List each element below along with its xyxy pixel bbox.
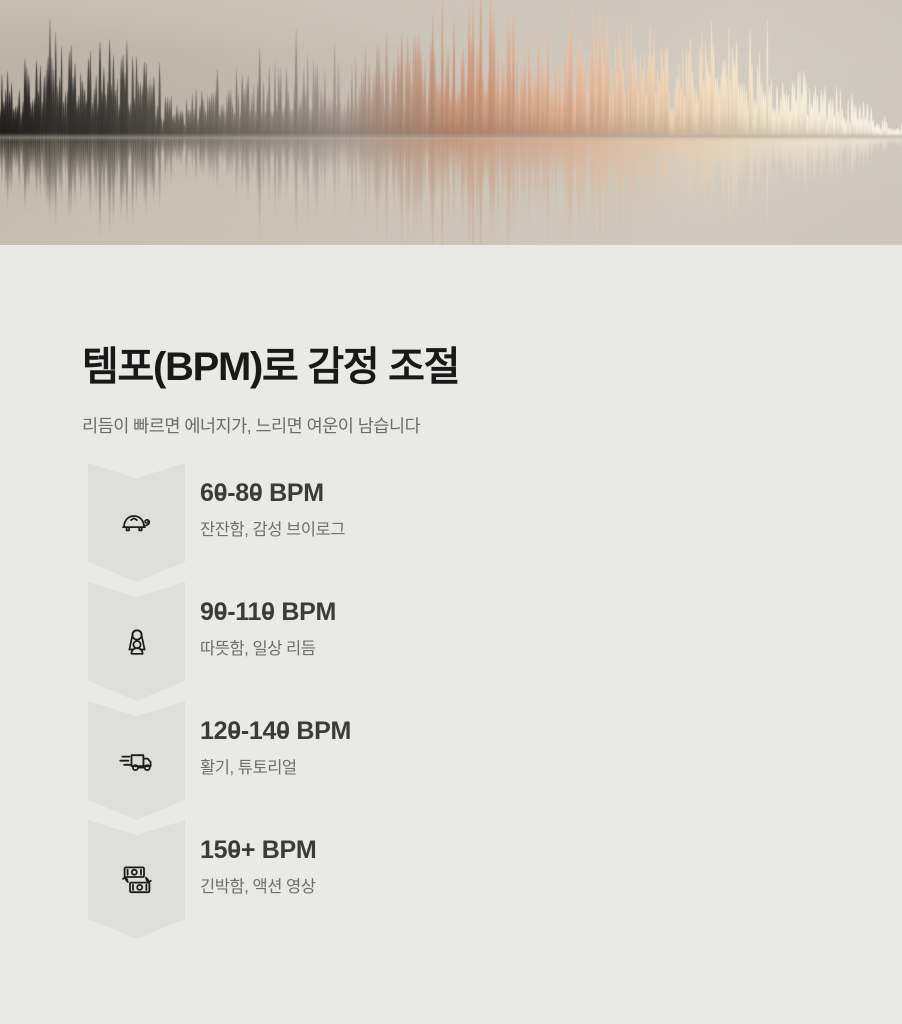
bpm-range-label: 90-110 BPM bbox=[200, 599, 336, 627]
list-item[interactable]: 150+ BPM 긴박함, 액션 영상 bbox=[0, 820, 902, 939]
bpm-description: 잔잔함, 감성 브이로그 bbox=[200, 521, 345, 541]
waveform-artwork bbox=[0, 0, 902, 245]
bpm-text-block: 60-80 BPM 잔잔함, 감성 브이로그 bbox=[200, 480, 345, 540]
hero-waveform-banner bbox=[0, 0, 902, 245]
family-person-icon bbox=[88, 627, 185, 657]
bpm-text-block: 90-110 BPM 따뜻함, 일상 리듬 bbox=[200, 599, 336, 659]
bpm-badge bbox=[88, 463, 185, 582]
delivery-truck-icon bbox=[88, 748, 185, 774]
turtle-icon bbox=[88, 510, 185, 536]
bpm-range-label: 120-140 BPM bbox=[200, 718, 351, 746]
bpm-text-block: 120-140 BPM 활기, 튜토리얼 bbox=[200, 718, 351, 778]
bpm-description: 따뜻함, 일상 리듬 bbox=[200, 640, 336, 660]
page-subtitle: 리듬이 빠르면 에너지가, 느리면 여운이 남습니다 bbox=[82, 413, 420, 438]
list-item[interactable]: 120-140 BPM 활기, 튜토리얼 bbox=[0, 701, 902, 820]
bpm-range-list: 60-80 BPM 잔잔함, 감성 브이로그 bbox=[0, 463, 902, 939]
bpm-range-label: 150+ BPM bbox=[200, 837, 316, 865]
money-exchange-icon bbox=[88, 864, 185, 896]
bpm-range-label: 60-80 BPM bbox=[200, 480, 345, 508]
page-title: 템포(BPM)로 감정 조절 bbox=[82, 346, 459, 389]
bpm-badge bbox=[88, 701, 185, 820]
bpm-description: 활기, 튜토리얼 bbox=[200, 759, 351, 779]
list-item[interactable]: 90-110 BPM 따뜻함, 일상 리듬 bbox=[0, 582, 902, 701]
content-section: 템포(BPM)로 감정 조절 리듬이 빠르면 에너지가, 느리면 여운이 남습니… bbox=[0, 245, 902, 1024]
bpm-badge bbox=[88, 820, 185, 939]
bpm-badge bbox=[88, 582, 185, 701]
list-item[interactable]: 60-80 BPM 잔잔함, 감성 브이로그 bbox=[0, 463, 902, 582]
bpm-text-block: 150+ BPM 긴박함, 액션 영상 bbox=[200, 837, 316, 897]
bpm-description: 긴박함, 액션 영상 bbox=[200, 878, 316, 898]
